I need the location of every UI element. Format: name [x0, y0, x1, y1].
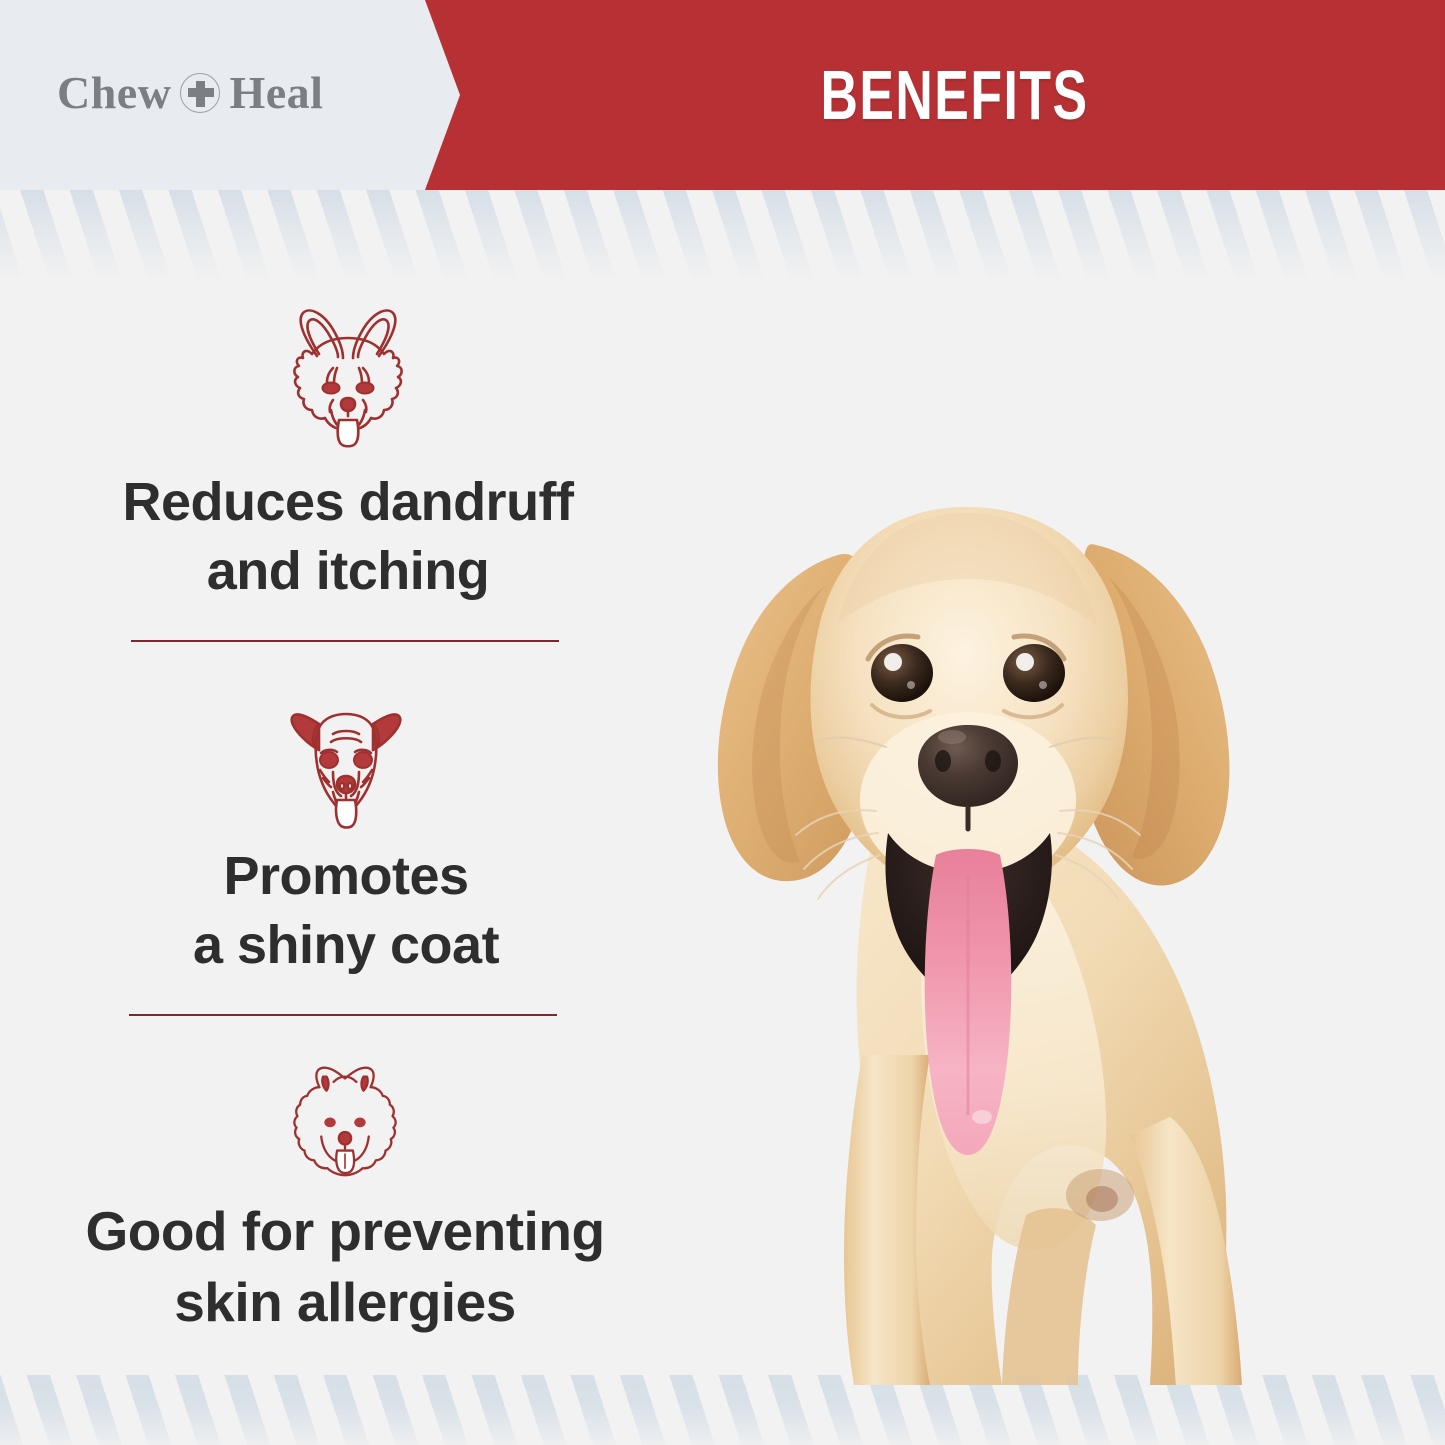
- benefit-line-2: a shiny coat: [193, 915, 499, 975]
- benefit-line-2: skin allergies: [174, 1271, 516, 1333]
- yellow-labrador-puppy-photo: [630, 255, 1290, 1385]
- logo-word-heal: Heal: [229, 66, 323, 119]
- terrier-dog-face-icon: [271, 680, 421, 830]
- brand-logo: Chew Heal: [57, 66, 323, 119]
- logo-word-chew: Chew: [57, 66, 171, 119]
- header-bar: BENEFITS Chew Heal: [0, 0, 1445, 190]
- divider-2: [129, 1014, 557, 1016]
- benefit-item-dandruff: Reduces dandruff and itching: [6, 300, 690, 642]
- benefit-item-skin-allergies: Good for preventing skin allergies: [0, 1052, 690, 1337]
- benefits-red-banner: BENEFITS: [390, 0, 1445, 190]
- benefit-item-shiny-coat: Promotes a shiny coat: [2, 680, 690, 1016]
- benefit-line-2: and itching: [207, 541, 489, 601]
- fluffy-dog-face-icon: [279, 1052, 411, 1184]
- benefit-label-skin-allergies: Good for preventing skin allergies: [85, 1196, 604, 1337]
- benefits-infographic: BENEFITS Chew Heal: [0, 0, 1445, 1445]
- page-title: BENEFITS: [527, 0, 1308, 190]
- benefit-line-1: Good for preventing: [85, 1200, 604, 1262]
- benefits-list: Reduces dandruff and itching: [0, 300, 690, 1337]
- benefit-label-shiny-coat: Promotes a shiny coat: [193, 842, 499, 980]
- benefit-line-1: Promotes: [223, 846, 468, 906]
- corgi-dog-face-icon: [273, 300, 423, 450]
- benefit-label-dandruff: Reduces dandruff and itching: [122, 468, 573, 606]
- divider-1: [131, 640, 559, 642]
- diagonal-stripes-bottom: [0, 1375, 1445, 1445]
- plus-in-circle-icon: [180, 73, 220, 113]
- benefit-line-1: Reduces dandruff: [122, 472, 573, 532]
